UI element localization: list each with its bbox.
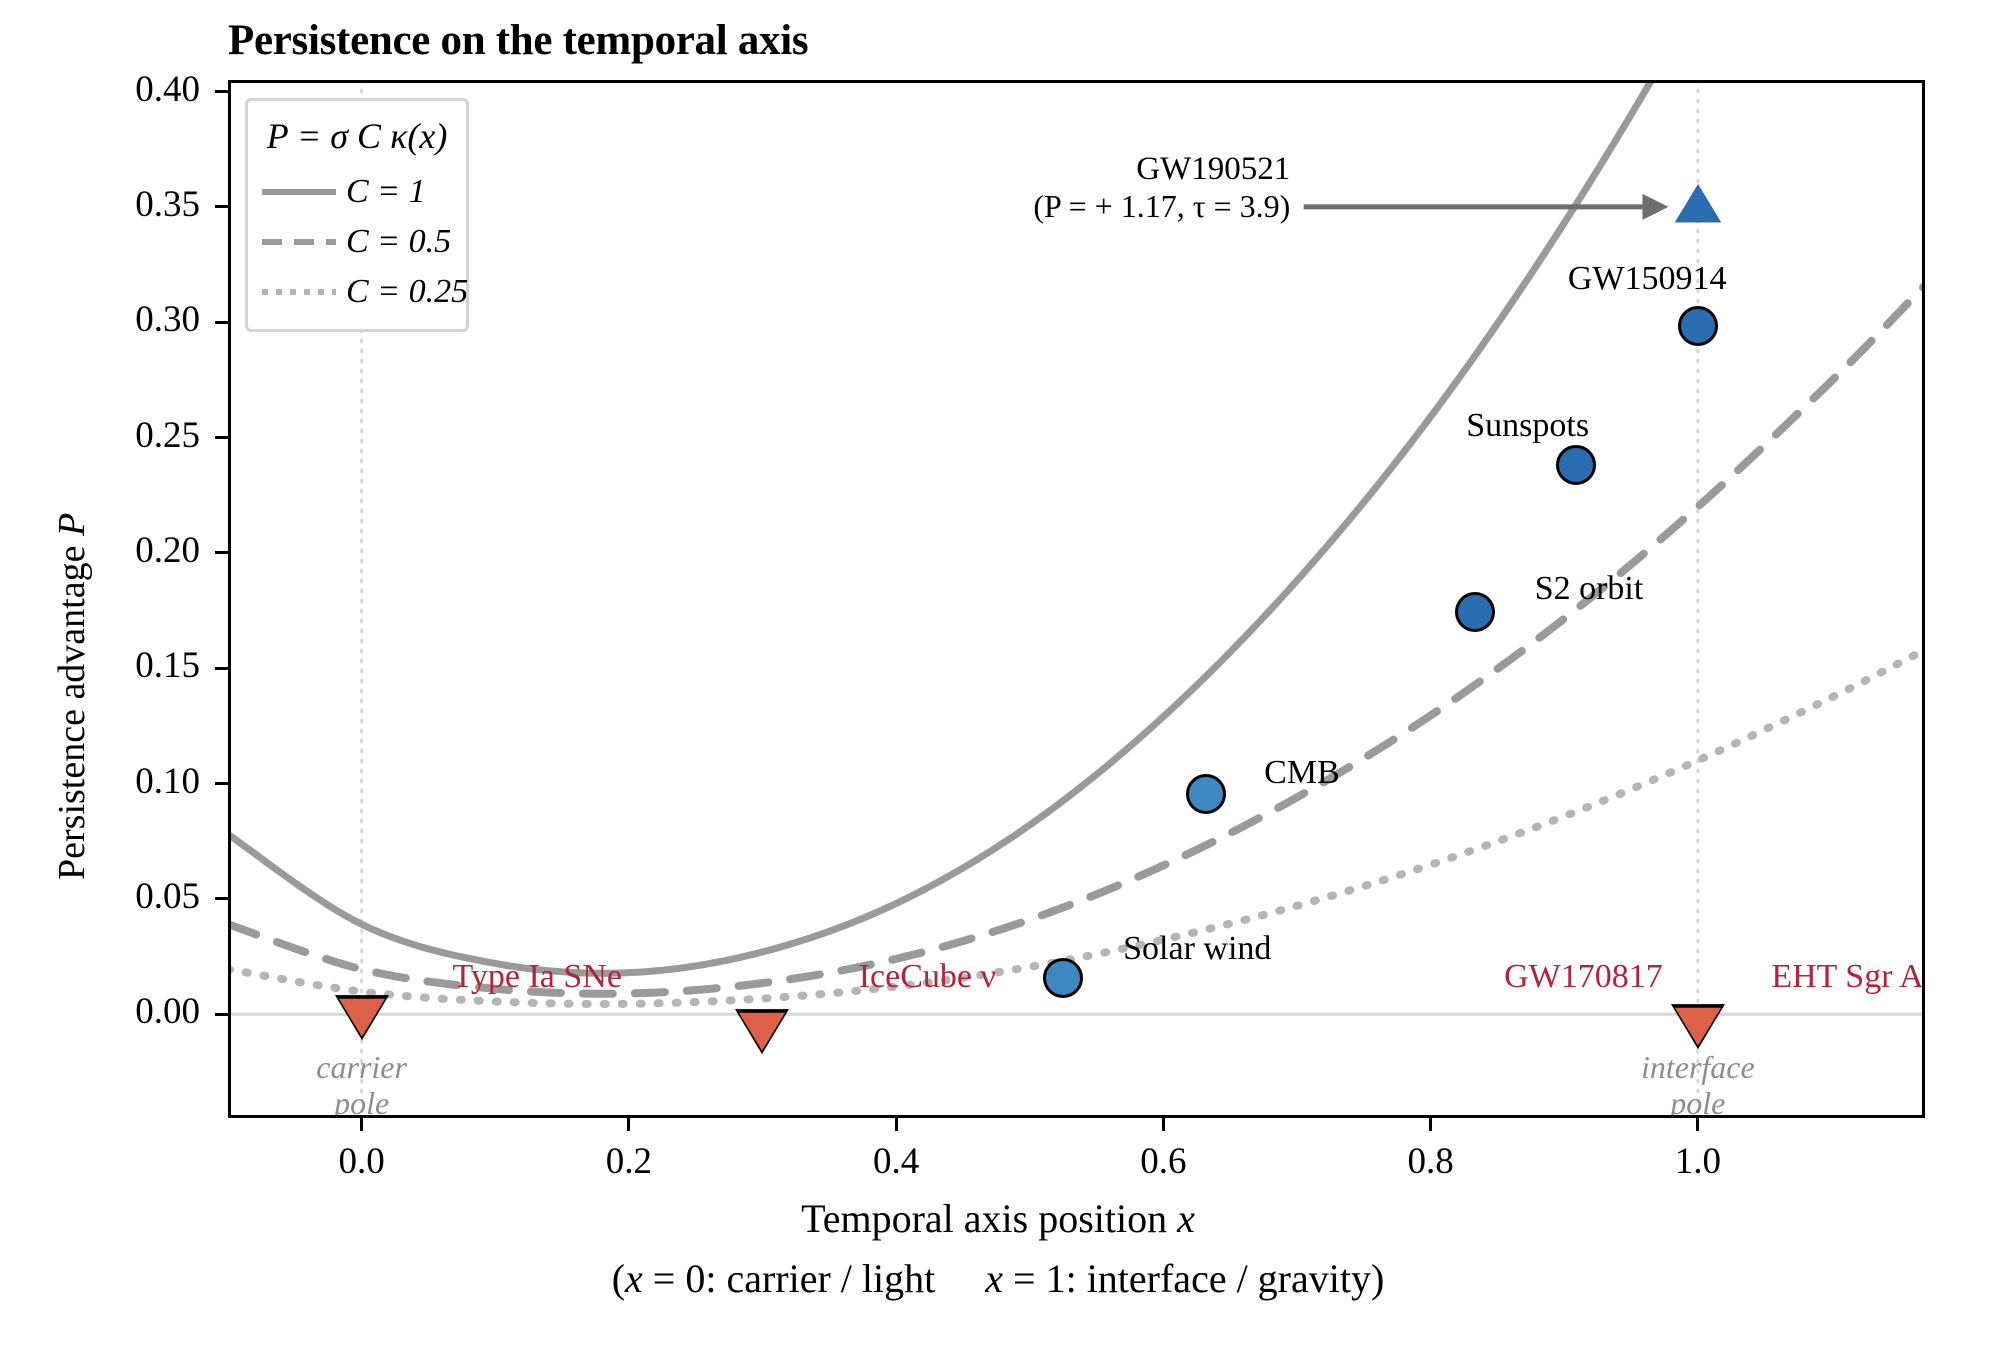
xsub-x-one: x	[985, 1256, 1003, 1301]
xsub-x-zero: x	[625, 1256, 643, 1301]
y-tick-label-5: 0.25	[50, 414, 200, 457]
y-tick-label-4: 0.20	[50, 529, 200, 572]
plot-clip: Solar windCMBS2 orbitSunspotsGW150914Typ…	[231, 83, 1922, 1115]
marker-icecube-[interactable]	[739, 1013, 785, 1051]
xsub-interface: = 1: interface / gravity)	[1003, 1256, 1384, 1301]
pole-caption-carrier-pole: carrierpole	[252, 1050, 472, 1115]
plot-area: Solar windCMBS2 orbitSunspotsGW150914Typ…	[228, 80, 1925, 1118]
annotation-gw190521: GW190521(P = + 1.17, τ = 3.9)	[876, 151, 1290, 225]
figure-canvas: Persistence on the temporal axis Persist…	[0, 0, 1996, 1369]
y-tick-mark-1	[215, 897, 228, 900]
marker-gw190521[interactable]	[1675, 184, 1721, 222]
annotation-line-1: GW190521	[876, 151, 1290, 188]
legend-box: P = σ C κ(x) C = 1 C = 0.5 C = 0.25	[245, 98, 469, 332]
x-tick-mark-3	[1162, 1118, 1165, 1131]
x-tick-mark-0	[360, 1118, 363, 1131]
pole-line-2: pole	[1670, 1085, 1725, 1115]
legend-entry-0: C = 1	[262, 167, 452, 217]
y-tick-label-0: 0.00	[50, 990, 200, 1033]
legend-label-0: C = 1	[346, 173, 426, 211]
legend-entry-1: C = 0.5	[262, 217, 452, 267]
marker-gw170817[interactable]	[1675, 1008, 1721, 1046]
marker-sunspots[interactable]	[1556, 445, 1596, 485]
point-label-eht-sgr-a*: EHT Sgr A*	[1771, 958, 1922, 996]
y-tick-mark-0	[215, 1013, 228, 1016]
y-tick-label-6: 0.30	[50, 298, 200, 341]
x-tick-mark-4	[1429, 1118, 1432, 1131]
pole-line-1: interface	[1641, 1049, 1755, 1085]
marker-cmb[interactable]	[1186, 774, 1226, 814]
pole-caption-interface-pole: interfacepole	[1588, 1050, 1808, 1115]
point-label-cmb: CMB	[1264, 754, 1340, 792]
x-tick-label-4: 0.8	[1351, 1140, 1511, 1183]
legend-key-dashed-line	[262, 239, 336, 245]
y-axis-label-text: Persistence advantage	[51, 536, 93, 880]
y-tick-mark-4	[215, 551, 228, 554]
legend-key-dotted-line	[262, 289, 336, 295]
y-tick-mark-7	[215, 205, 228, 208]
y-tick-label-1: 0.05	[50, 875, 200, 918]
x-tick-label-3: 0.6	[1083, 1140, 1243, 1183]
chart-title: Persistence on the temporal axis	[228, 16, 808, 65]
point-label-icecube-: IceCube ν	[859, 958, 996, 996]
x-axis-label: Temporal axis position x	[0, 1195, 1996, 1242]
point-label-s2-orbit: S2 orbit	[1535, 570, 1644, 608]
point-label-gw150914: GW150914	[1568, 260, 1727, 298]
y-tick-label-7: 0.35	[50, 183, 200, 226]
y-tick-mark-5	[215, 436, 228, 439]
marker-solar-wind[interactable]	[1043, 958, 1083, 998]
plot-overlay: Solar windCMBS2 orbitSunspotsGW150914Typ…	[231, 83, 1922, 1115]
y-tick-label-3: 0.15	[50, 644, 200, 687]
x-axis-label-text: Temporal axis position	[801, 1196, 1177, 1241]
point-label-solar-wind: Solar wind	[1123, 930, 1271, 968]
point-label-type-ia-sne: Type Ia SNe	[452, 958, 621, 996]
annotation-line-2: (P = + 1.17, τ = 3.9)	[876, 188, 1290, 225]
y-tick-mark-8	[215, 90, 228, 93]
x-axis-label-symbol: x	[1177, 1196, 1195, 1241]
pole-line-1: carrier	[316, 1049, 407, 1085]
x-tick-mark-2	[895, 1118, 898, 1131]
marker-gw150914[interactable]	[1678, 306, 1718, 346]
x-axis-subcaption: (x = 0: carrier / light x = 1: interface…	[0, 1255, 1996, 1302]
y-tick-mark-6	[215, 321, 228, 324]
legend-label-2: C = 0.25	[346, 273, 468, 311]
x-tick-label-5: 1.0	[1618, 1140, 1778, 1183]
legend-label-1: C = 0.5	[346, 223, 451, 261]
pole-line-2: pole	[334, 1085, 389, 1115]
marker-type-ia-sne[interactable]	[339, 999, 385, 1037]
x-tick-mark-1	[627, 1118, 630, 1131]
x-tick-label-0: 0.0	[282, 1140, 442, 1183]
legend-entry-2: C = 0.25	[262, 267, 452, 317]
y-tick-label-2: 0.10	[50, 760, 200, 803]
y-tick-label-8: 0.40	[50, 68, 200, 111]
xsub-carrier: = 0: carrier / light	[643, 1256, 935, 1301]
x-tick-label-1: 0.2	[549, 1140, 709, 1183]
point-label-gw170817: GW170817	[1504, 958, 1663, 996]
legend-key-solid-line	[262, 189, 336, 195]
y-tick-mark-2	[215, 782, 228, 785]
legend-title: P = σ C κ(x)	[262, 111, 452, 167]
point-label-sunspots: Sunspots	[1466, 407, 1589, 445]
marker-s2-orbit[interactable]	[1455, 592, 1495, 632]
x-tick-label-2: 0.4	[816, 1140, 976, 1183]
xsub-open: (	[612, 1256, 625, 1301]
x-tick-mark-5	[1696, 1118, 1699, 1131]
y-tick-mark-3	[215, 667, 228, 670]
